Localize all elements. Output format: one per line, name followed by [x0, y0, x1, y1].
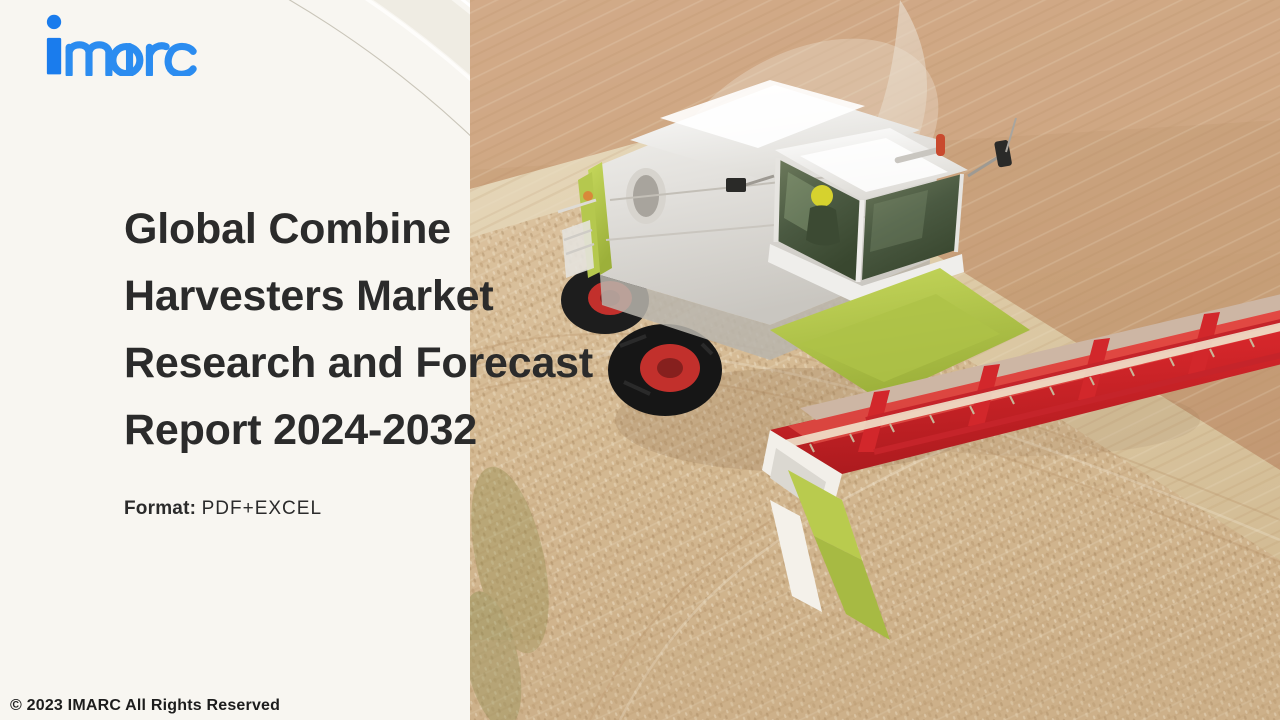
- format-value: PDF+EXCEL: [202, 498, 322, 519]
- cover-text-block: Global Combine Harvesters Market Researc…: [124, 196, 764, 520]
- page-title: Global Combine Harvesters Market Researc…: [124, 196, 764, 464]
- format-label: Format:: [124, 498, 196, 519]
- report-cover-page: Global Combine Harvesters Market Researc…: [0, 0, 1280, 720]
- format-line: Format: PDF+EXCEL: [124, 498, 764, 520]
- imarc-logo[interactable]: [40, 14, 260, 84]
- copyright-footer: © 2023 IMARC All Rights Reserved: [10, 697, 280, 715]
- imarc-wordmark-icon: [40, 14, 200, 76]
